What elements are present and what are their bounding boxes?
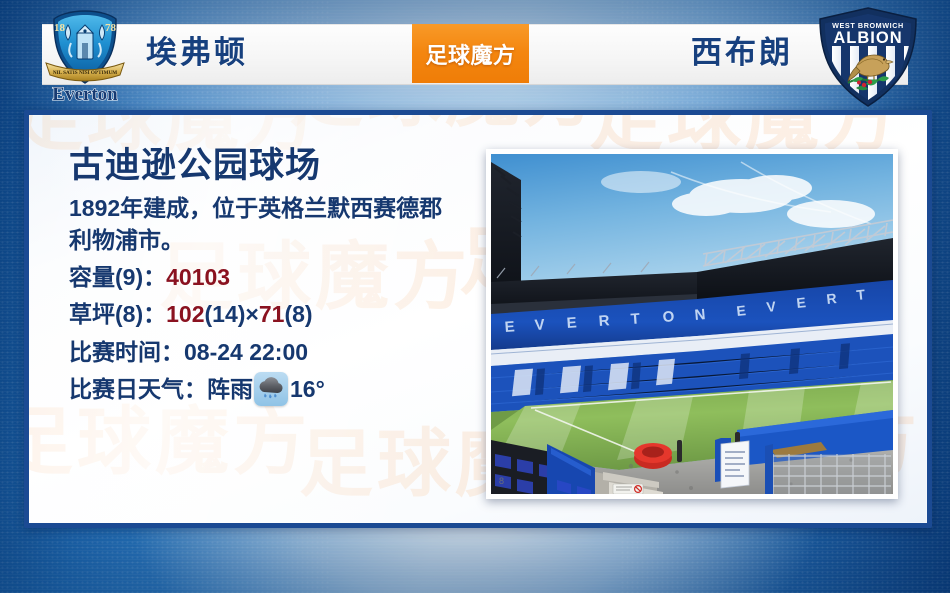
svg-text:E: E xyxy=(736,302,747,319)
shower-rain-icon xyxy=(254,372,288,406)
weather-temperature: 16° xyxy=(290,371,325,408)
svg-text:8: 8 xyxy=(499,476,504,486)
stadium-info-screen: 18 78 NIL SATIS NISI OPTIMUM Everton 埃弗顿… xyxy=(0,0,950,593)
svg-text:ALBION: ALBION xyxy=(833,29,902,47)
svg-text:V: V xyxy=(534,316,545,334)
pitch-length-alt: (14) xyxy=(205,301,246,327)
stadium-info-card: 足球魔方 足球魔方 足球魔方 足球魔方 足球魔方 足球魔方 足球魔方 足球魔方 … xyxy=(24,110,932,528)
capacity-label: 容量(9)： xyxy=(69,264,166,290)
svg-text:O: O xyxy=(662,308,675,326)
watermark-text: 足球魔方 xyxy=(289,110,601,131)
brand-logo-label: 足球魔方 xyxy=(425,38,515,70)
away-team-name: 西布朗 xyxy=(691,30,793,76)
stadium-photo-frame[interactable]: E V E R T O N E V E R T xyxy=(486,149,898,499)
match-time-value: 08-24 22:00 xyxy=(184,339,308,365)
west-bromwich-albion-crest[interactable]: WEST BROMWICH ALBION xyxy=(812,5,924,109)
everton-crest[interactable]: 18 78 NIL SATIS NISI OPTIMUM Everton xyxy=(30,5,140,105)
weather-condition: 阵雨 xyxy=(207,371,253,408)
svg-text:E: E xyxy=(796,294,807,311)
svg-text:R: R xyxy=(598,312,610,330)
pitch-label: 草坪(8)： xyxy=(69,301,166,327)
weather-label: 比赛日天气： xyxy=(69,371,207,408)
svg-text:18: 18 xyxy=(54,22,66,34)
watermark-text: 足球魔方 xyxy=(24,405,311,479)
pitch-length: 102 xyxy=(166,301,204,327)
svg-text:T: T xyxy=(630,310,640,328)
svg-text:NIL SATIS NISI OPTIMUM: NIL SATIS NISI OPTIMUM xyxy=(53,70,117,76)
capacity-row: 容量(9)：40103 xyxy=(69,259,489,296)
stadium-photo: E V E R T O N E V E R T xyxy=(491,154,893,494)
svg-text:R: R xyxy=(826,290,838,307)
pitch-separator: × xyxy=(245,301,258,327)
pitch-row: 草坪(8)：102(14)×71(8) xyxy=(69,296,489,333)
brand-logo[interactable]: 足球魔方 xyxy=(412,24,529,83)
svg-text:Everton: Everton xyxy=(52,84,118,105)
svg-text:E: E xyxy=(504,318,515,336)
match-header: 18 78 NIL SATIS NISI OPTIMUM Everton 埃弗顿… xyxy=(0,0,950,108)
pitch-width-alt: (8) xyxy=(284,301,312,327)
stadium-info-text: 古迪逊公园球场 1892年建成，位于英格兰默西赛德郡利物浦市。 容量(9)：40… xyxy=(69,147,489,408)
match-time-row: 比赛时间：08-24 22:00 xyxy=(69,334,489,371)
weather-row: 比赛日天气：阵雨 16 xyxy=(69,371,489,408)
svg-text:N: N xyxy=(694,306,706,324)
capacity-value: 40103 xyxy=(166,264,230,290)
stadium-title: 古迪逊公园球场 xyxy=(69,147,489,185)
svg-text:78: 78 xyxy=(105,22,117,34)
stadium-description: 1892年建成，位于英格兰默西赛德郡利物浦市。 xyxy=(69,192,464,257)
home-team-name: 埃弗顿 xyxy=(146,30,248,76)
match-time-label: 比赛时间： xyxy=(69,339,184,365)
svg-text:E: E xyxy=(566,314,577,332)
pitch-width: 71 xyxy=(259,301,285,327)
